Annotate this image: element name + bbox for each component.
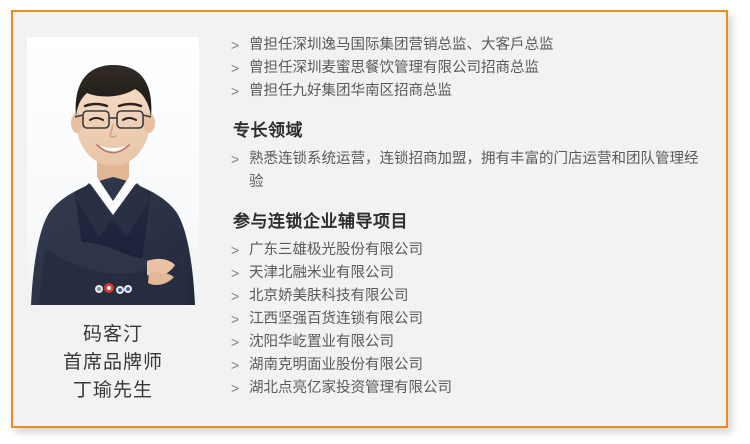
list-item-label: 熟悉连锁系统运营，连锁招商加盟，拥有丰富的门店运营和团队管理经验 bbox=[249, 151, 699, 190]
projects-heading: 参与连锁企业辅导项目 bbox=[233, 207, 710, 232]
profile-right-panel: > 曾担任深圳逸马国际集团营销总监、大客戶总监 > 曾担任深圳麦蜜思餐饮管理有限… bbox=[213, 12, 726, 426]
list-item-label: 江西坚强百货连锁有限公司 bbox=[249, 311, 423, 327]
portrait-photo-image bbox=[27, 37, 199, 305]
list-item: > 广东三雄极光股份有限公司 bbox=[231, 239, 710, 262]
list-item: > 江西坚强百货连锁有限公司 bbox=[231, 308, 710, 331]
list-item-label: 北京娇美肤科技有限公司 bbox=[249, 288, 409, 304]
chevron-right-icon: > bbox=[231, 34, 239, 57]
expertise-list: > 熟悉连锁系统运营，连锁招商加盟，拥有丰富的门店运营和团队管理经验 bbox=[231, 148, 710, 194]
list-item-label: 曾担任深圳逸马国际集团营销总监、大客戶总监 bbox=[249, 37, 554, 53]
chevron-right-icon: > bbox=[231, 331, 239, 354]
chevron-right-icon: > bbox=[231, 239, 239, 262]
list-item-label: 广东三雄极光股份有限公司 bbox=[249, 242, 423, 258]
list-item-label: 湖南克明面业股份有限公司 bbox=[249, 357, 423, 373]
chevron-right-icon: > bbox=[231, 57, 239, 80]
chevron-right-icon: > bbox=[231, 354, 239, 377]
chevron-right-icon: > bbox=[231, 285, 239, 308]
list-item-label: 天津北融米业有限公司 bbox=[249, 265, 394, 281]
list-item: > 湖北点亮亿家投资管理有限公司 bbox=[231, 377, 710, 400]
list-item: > 湖南克明面业股份有限公司 bbox=[231, 354, 710, 377]
list-item-label: 湖北点亮亿家投资管理有限公司 bbox=[249, 380, 452, 396]
chevron-right-icon: > bbox=[231, 80, 239, 103]
chevron-right-icon: > bbox=[231, 148, 239, 171]
chevron-right-icon: > bbox=[231, 262, 239, 285]
expertise-heading: 专长领域 bbox=[233, 116, 710, 141]
chevron-right-icon: > bbox=[231, 308, 239, 331]
list-item: > 熟悉连锁系统运营，连锁招商加盟，拥有丰富的门店运营和团队管理经验 bbox=[231, 148, 710, 194]
brand-name: 码客汀 bbox=[13, 321, 213, 349]
person-name: 丁瑜先生 bbox=[13, 377, 213, 405]
list-item: > 天津北融米业有限公司 bbox=[231, 262, 710, 285]
list-item: > 曾担任深圳麦蜜思餐饮管理有限公司招商总监 bbox=[231, 57, 710, 80]
list-item: > 沈阳华屹置业有限公司 bbox=[231, 331, 710, 354]
list-item-label: 曾担任深圳麦蜜思餐饮管理有限公司招商总监 bbox=[249, 60, 539, 76]
portrait-photo bbox=[27, 37, 199, 305]
profile-title: 首席品牌师 bbox=[13, 349, 213, 377]
profile-name-block: 码客汀 首席品牌师 丁瑜先生 bbox=[13, 321, 213, 405]
experience-list: > 曾担任深圳逸马国际集团营销总监、大客戶总监 > 曾担任深圳麦蜜思餐饮管理有限… bbox=[231, 34, 710, 103]
list-item: > 北京娇美肤科技有限公司 bbox=[231, 285, 710, 308]
list-item-label: 沈阳华屹置业有限公司 bbox=[249, 334, 394, 350]
list-item-label: 曾担任九好集团华南区招商总监 bbox=[249, 83, 452, 99]
profile-card: 码客汀 首席品牌师 丁瑜先生 > 曾担任深圳逸马国际集团营销总监、大客戶总监 >… bbox=[11, 10, 728, 428]
chevron-right-icon: > bbox=[231, 377, 239, 400]
list-item: > 曾担任九好集团华南区招商总监 bbox=[231, 80, 710, 103]
profile-left-panel: 码客汀 首席品牌师 丁瑜先生 bbox=[13, 12, 213, 426]
list-item: > 曾担任深圳逸马国际集团营销总监、大客戶总监 bbox=[231, 34, 710, 57]
projects-list: > 广东三雄极光股份有限公司 > 天津北融米业有限公司 > 北京娇美肤科技有限公… bbox=[231, 239, 710, 400]
